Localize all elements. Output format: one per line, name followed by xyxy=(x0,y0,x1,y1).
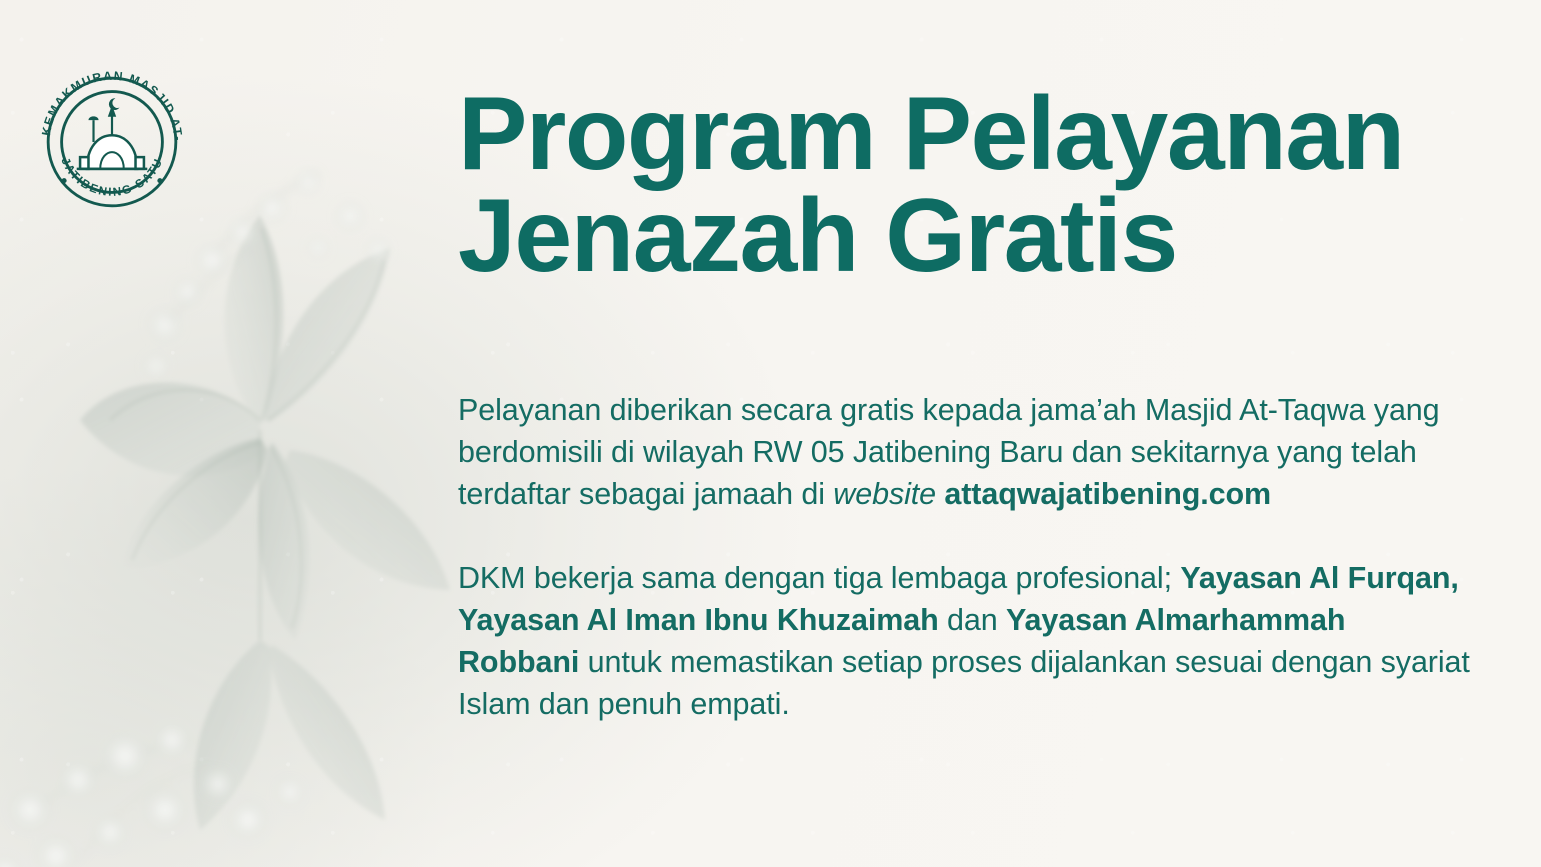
page-title: Program Pelayanan Jenazah Gratis xyxy=(458,84,1468,288)
mosque-icon xyxy=(77,98,148,169)
paragraph-eligibility: Pelayanan diberikan secara gratis kepada… xyxy=(458,389,1470,515)
poster-canvas: DEWAN KEMAKMURAN MASJID AT-TAQWA JATIBEN… xyxy=(0,0,1541,867)
body-copy: Pelayanan diberikan secara gratis kepada… xyxy=(458,389,1470,725)
text-run: dan xyxy=(939,603,1006,637)
content-column: Program Pelayanan Jenazah Gratis Pelayan… xyxy=(458,0,1478,867)
emphasis-bold: attaqwajatibening.com xyxy=(944,477,1271,511)
paragraph-partners: DKM bekerja sama dengan tiga lembaga pro… xyxy=(458,557,1470,725)
emphasis-italic: website xyxy=(833,477,936,511)
text-run: untuk memastikan setiap proses dijalanka… xyxy=(458,645,1470,721)
dkm-at-taqwa-logo: DEWAN KEMAKMURAN MASJID AT-TAQWA JATIBEN… xyxy=(28,58,196,226)
text-run: DKM bekerja sama dengan tiga lembaga pro… xyxy=(458,561,1180,595)
